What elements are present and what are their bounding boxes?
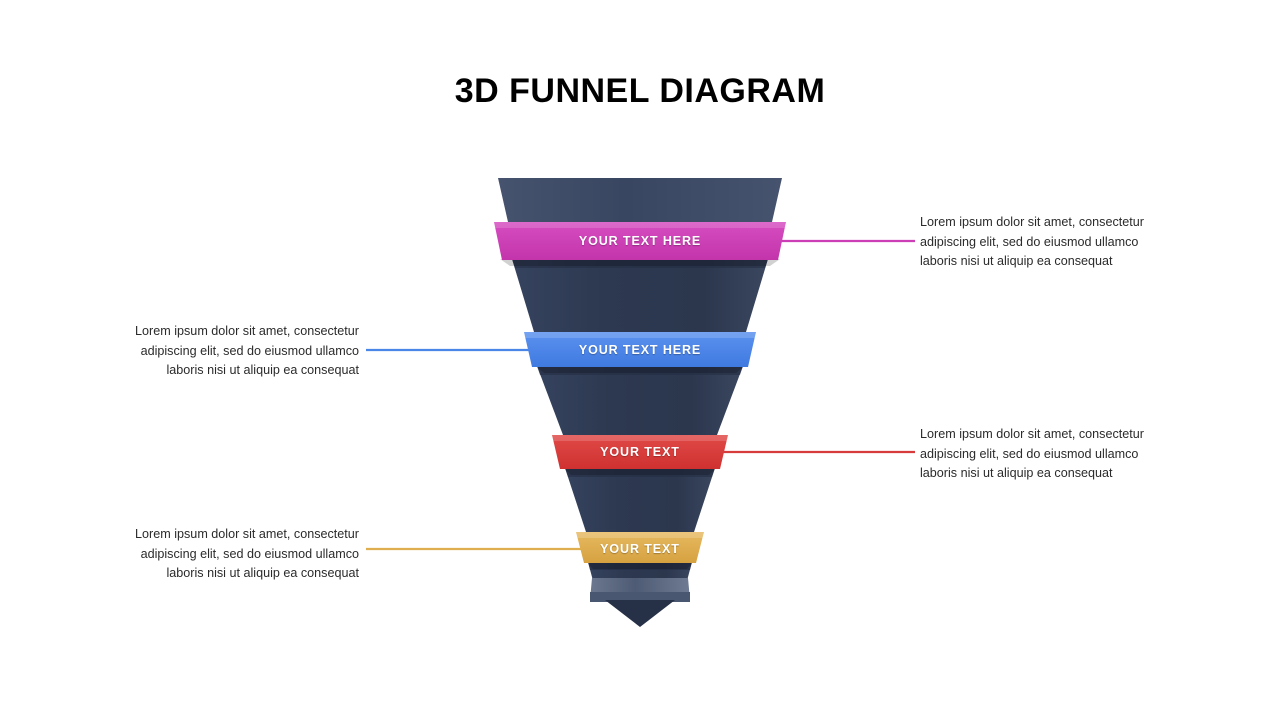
- description-stage-1: Lorem ipsum dolor sit amet, consectetur …: [920, 213, 1160, 272]
- description-stage-2: Lorem ipsum dolor sit amet, consectetur …: [119, 322, 359, 381]
- description-stage-4: Lorem ipsum dolor sit amet, consectetur …: [119, 525, 359, 584]
- description-line: laboris nisi ut aliquip ea consequat: [920, 252, 1160, 272]
- funnel-band-shadow-1: [500, 259, 780, 266]
- description-line: adipiscing elit, sed do eiusmod ullamco: [119, 545, 359, 565]
- funnel-band-shadow-2: [536, 366, 744, 373]
- description-line: adipiscing elit, sed do eiusmod ullamco: [920, 445, 1160, 465]
- description-line: Lorem ipsum dolor sit amet, consectetur: [920, 425, 1160, 445]
- description-line: laboris nisi ut aliquip ea consequat: [119, 564, 359, 584]
- funnel-band-bevel-2: [524, 332, 756, 338]
- funnel-arrow-icon: [605, 600, 675, 627]
- description-line: Lorem ipsum dolor sit amet, consectetur: [920, 213, 1160, 233]
- description-line: laboris nisi ut aliquip ea consequat: [920, 464, 1160, 484]
- description-line: adipiscing elit, sed do eiusmod ullamco: [920, 233, 1160, 253]
- funnel-band-stage-3[interactable]: [552, 435, 728, 475]
- funnel-band-stage-2[interactable]: [524, 332, 756, 373]
- description-line: Lorem ipsum dolor sit amet, consectetur: [119, 322, 359, 342]
- funnel-band-bevel-4: [576, 532, 704, 538]
- description-line: laboris nisi ut aliquip ea consequat: [119, 361, 359, 381]
- funnel-segment-1: [498, 178, 782, 222]
- funnel-segment-3: [537, 366, 743, 435]
- funnel-band-shadow-4: [587, 562, 693, 569]
- funnel-band-stage-4[interactable]: [576, 532, 704, 569]
- description-line: Lorem ipsum dolor sit amet, consectetur: [119, 525, 359, 545]
- funnel-segment-4: [565, 468, 715, 532]
- funnel-band-bevel-1: [494, 222, 786, 228]
- funnel-band-bevel-3: [552, 435, 728, 441]
- funnel-segment-2: [512, 259, 768, 332]
- description-line: adipiscing elit, sed do eiusmod ullamco: [119, 342, 359, 362]
- funnel-band-stage-1[interactable]: [494, 222, 786, 266]
- funnel-band-shadow-3: [564, 468, 716, 475]
- description-stage-3: Lorem ipsum dolor sit amet, consectetur …: [920, 425, 1160, 484]
